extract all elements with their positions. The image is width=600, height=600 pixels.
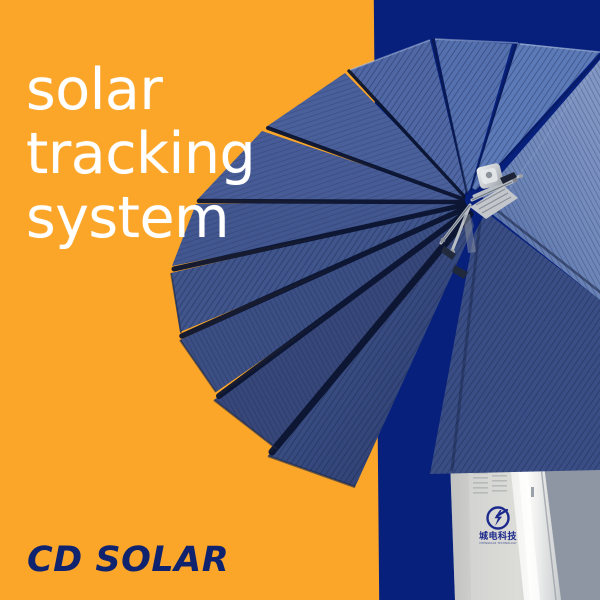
poster-canvas: 城电科技 CHENGDIAN TECHNOLOGY solar tracking… — [0, 0, 600, 600]
headline-line-3: system — [26, 186, 255, 250]
cabinet-brand-logo: 城电科技 CHENGDIAN TECHNOLOGY — [470, 505, 526, 546]
headline-line-2: tracking — [26, 122, 255, 186]
headline: solar tracking system — [26, 58, 255, 250]
brand-name: CD SOLAR — [27, 540, 229, 580]
headline-line-1: solar — [26, 58, 255, 122]
logo-chinese-text: 城电科技 — [470, 532, 526, 542]
logo-latin-subtext: CHENGDIAN TECHNOLOGY — [470, 542, 526, 546]
lightning-bolt-in-circle-icon — [485, 505, 511, 531]
